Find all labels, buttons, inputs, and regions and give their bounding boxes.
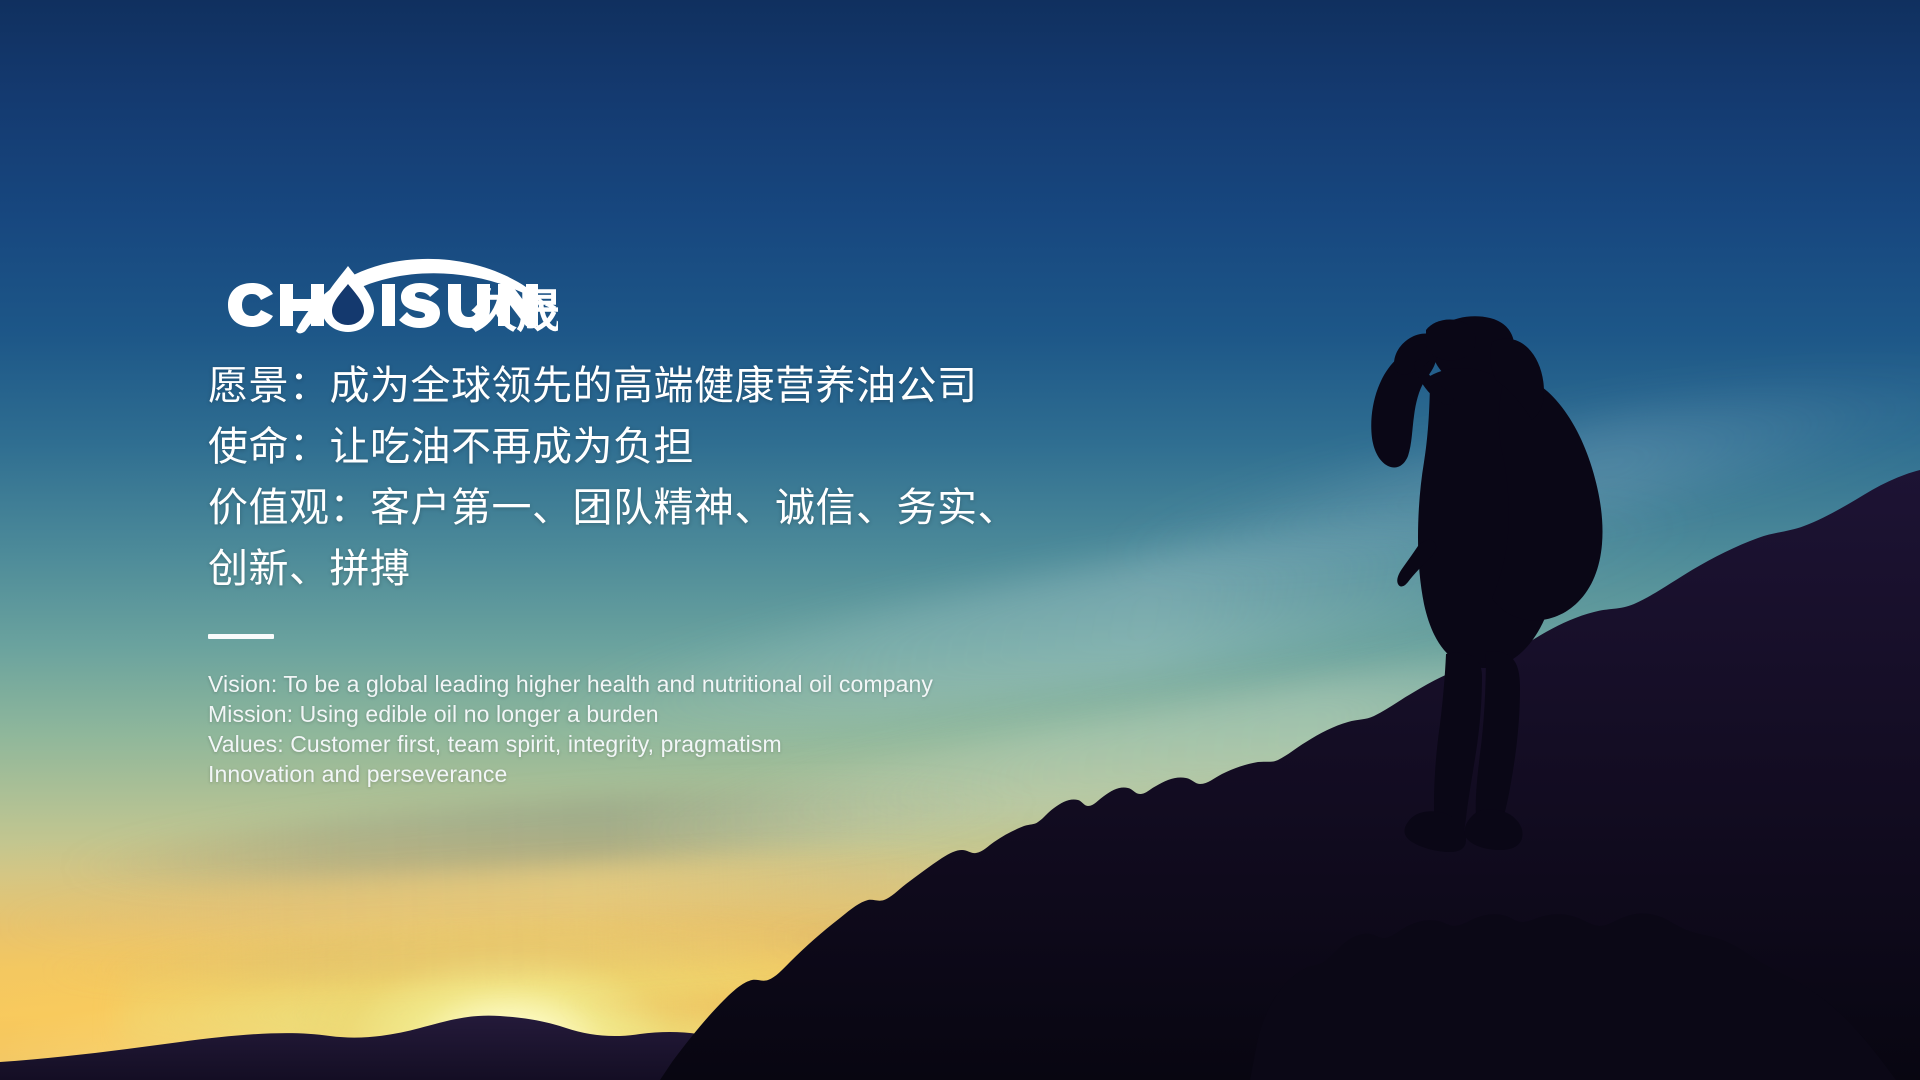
logo-cjk-text: 久晟	[471, 284, 558, 338]
values-line-zh-cont: 创新、拼搏	[208, 539, 1208, 600]
values-line-zh: 价值观：客户第一、团队精神、诚信、务实、	[208, 478, 1208, 539]
values-line-en: Values: Customer first, team spirit, int…	[208, 729, 1208, 759]
vision-line-en: Vision: To be a global leading higher he…	[208, 669, 1208, 699]
mission-line-en: Mission: Using edible oil no longer a bu…	[208, 699, 1208, 729]
vision-line-zh: 愿景：成为全球领先的高端健康营养油公司	[208, 356, 1208, 417]
slide-canvas: CHOISUN久晟	[0, 0, 1920, 1080]
mission-line-zh: 使命：让吃油不再成为负担	[208, 417, 1208, 478]
section-divider	[208, 634, 274, 639]
statements-chinese: 愿景：成为全球领先的高端健康营养油公司 使命：让吃油不再成为负担 价值观：客户第…	[208, 356, 1208, 600]
statements-english: Vision: To be a global leading higher he…	[208, 669, 1208, 789]
company-logo[interactable]: CHOISUN久晟	[208, 238, 558, 338]
content-block: CHOISUN久晟	[208, 238, 1208, 789]
values-line-en-cont: Innovation and perseverance	[208, 759, 1208, 789]
